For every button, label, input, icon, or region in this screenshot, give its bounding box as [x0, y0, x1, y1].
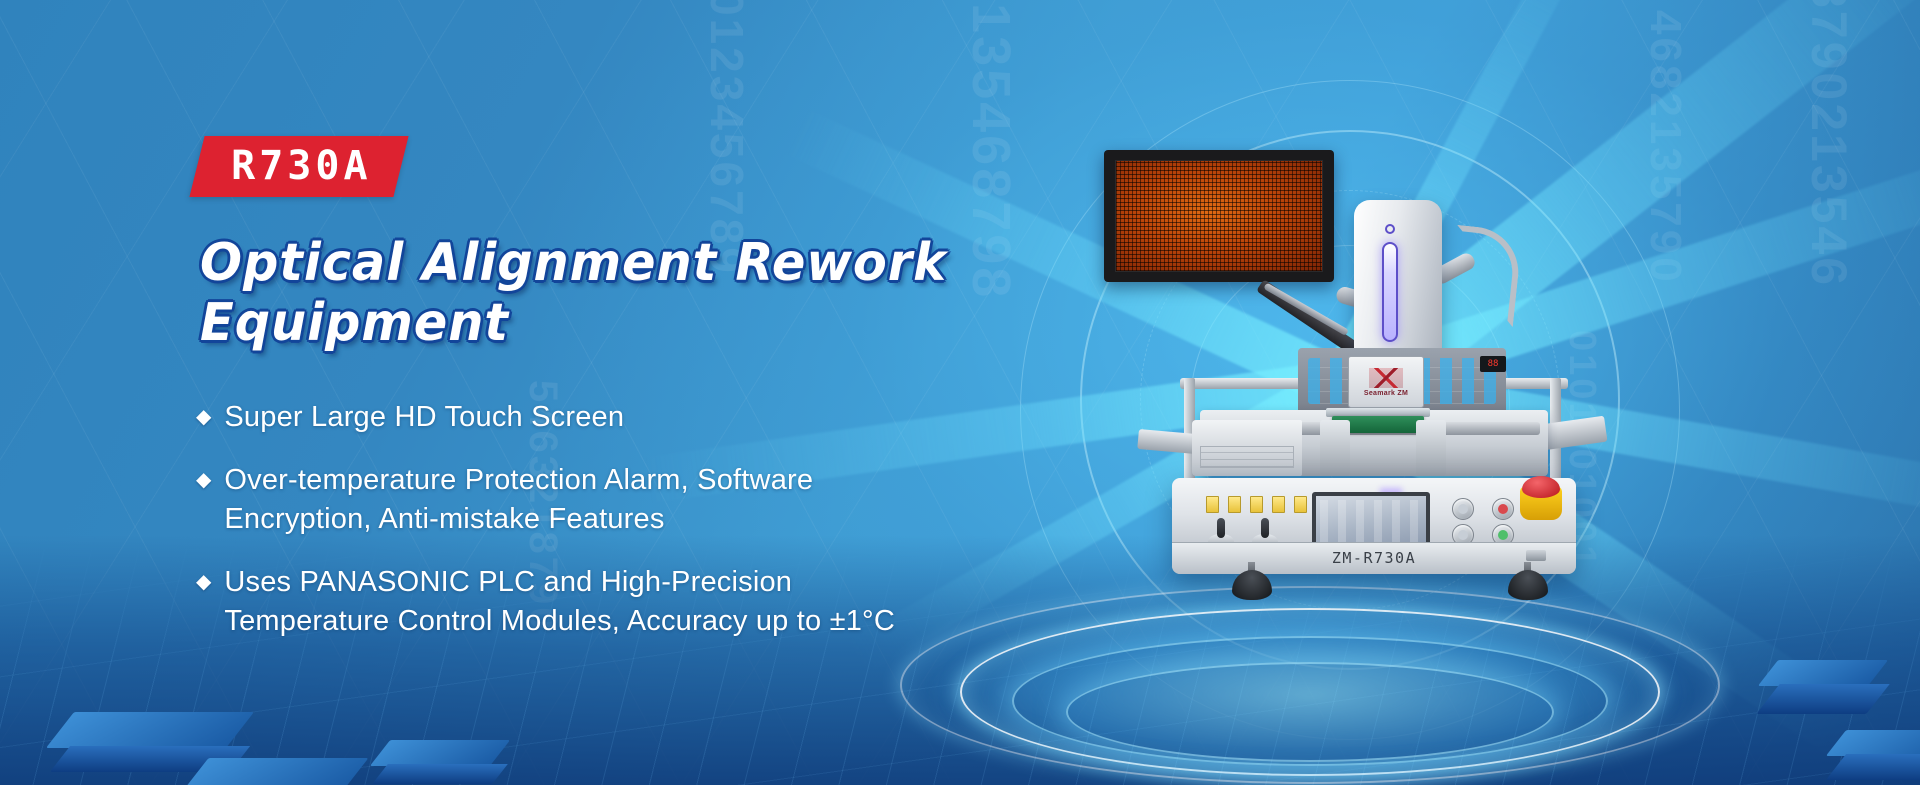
diamond-bullet-icon: ◆	[196, 461, 211, 499]
screen-content	[1320, 500, 1422, 542]
usb-port-icon	[1526, 550, 1546, 561]
headline-line-2: Equipment	[200, 293, 989, 353]
machine-foot-left	[1232, 570, 1272, 600]
brand-logo-label: Seamark ZM	[1364, 390, 1408, 397]
brand-logo-plate: Seamark ZM	[1348, 356, 1424, 408]
model-badge: R730A	[189, 136, 409, 197]
heater-support-rod	[1263, 282, 1349, 336]
digit-stream: 4682135790	[1640, 10, 1690, 285]
model-badge-label: R730A	[231, 146, 371, 186]
button-core	[1498, 530, 1508, 540]
button-core	[1498, 504, 1508, 514]
status-indicator	[1250, 496, 1263, 513]
control-button-1[interactable]	[1452, 498, 1474, 520]
side-tray	[1192, 420, 1302, 476]
headline-line-1: Optical Alignment Rework	[200, 233, 989, 293]
button-core	[1458, 530, 1468, 540]
status-indicator	[1294, 496, 1307, 513]
heater-ceramic-grid	[1115, 160, 1323, 272]
machine-foot-right	[1508, 570, 1548, 600]
pcb-clamp-right	[1416, 420, 1446, 476]
status-indicator	[1228, 496, 1241, 513]
diamond-bullet-icon: ◆	[196, 398, 211, 436]
button-core	[1458, 504, 1468, 514]
control-button-2[interactable]	[1492, 498, 1514, 520]
feature-text: Uses PANASONIC PLC and High-Precision Te…	[224, 563, 904, 641]
digit-stream: 8790213546	[1800, 0, 1858, 288]
column-led-strip	[1382, 242, 1398, 342]
list-item: ◆ Over-temperature Protection Alarm, Sof…	[196, 461, 1056, 539]
product-image-rework-machine: Seamark ZM 88	[1080, 120, 1640, 680]
column-indicator-dot	[1385, 224, 1395, 234]
seamark-logo-icon	[1369, 368, 1403, 388]
feature-list: ◆ Super Large HD Touch Screen ◆ Over-tem…	[196, 398, 1056, 665]
list-item: ◆ Super Large HD Touch Screen	[196, 398, 1056, 437]
product-banner: 0123456789 2135468798 4682135790 8790213…	[0, 0, 1920, 785]
tray-label-sheet	[1200, 446, 1294, 468]
emergency-stop-button[interactable]	[1522, 476, 1560, 498]
feature-text: Super Large HD Touch Screen	[224, 398, 624, 437]
status-indicator	[1272, 496, 1285, 513]
status-indicator	[1206, 496, 1219, 513]
machine-model-label: ZM-R730A	[1172, 544, 1576, 572]
toggle-knob	[1217, 518, 1225, 538]
feature-text: Over-temperature Protection Alarm, Softw…	[224, 461, 924, 539]
gooseneck-lamp-icon	[1447, 225, 1523, 327]
toggle-knob	[1261, 518, 1269, 538]
pcb-clamp-left	[1320, 420, 1350, 476]
temperature-mini-display: 88	[1480, 356, 1506, 372]
banner-content: R730A Optical Alignment Rework Equipment…	[0, 0, 1020, 785]
diamond-bullet-icon: ◆	[196, 563, 211, 601]
page-title: Optical Alignment Rework Equipment	[200, 233, 989, 353]
ir-heater-panel-icon	[1104, 150, 1334, 282]
mini-display-value: 88	[1488, 359, 1499, 369]
status-indicator-row	[1206, 496, 1307, 513]
list-item: ◆ Uses PANASONIC PLC and High-Precision …	[196, 563, 1056, 641]
